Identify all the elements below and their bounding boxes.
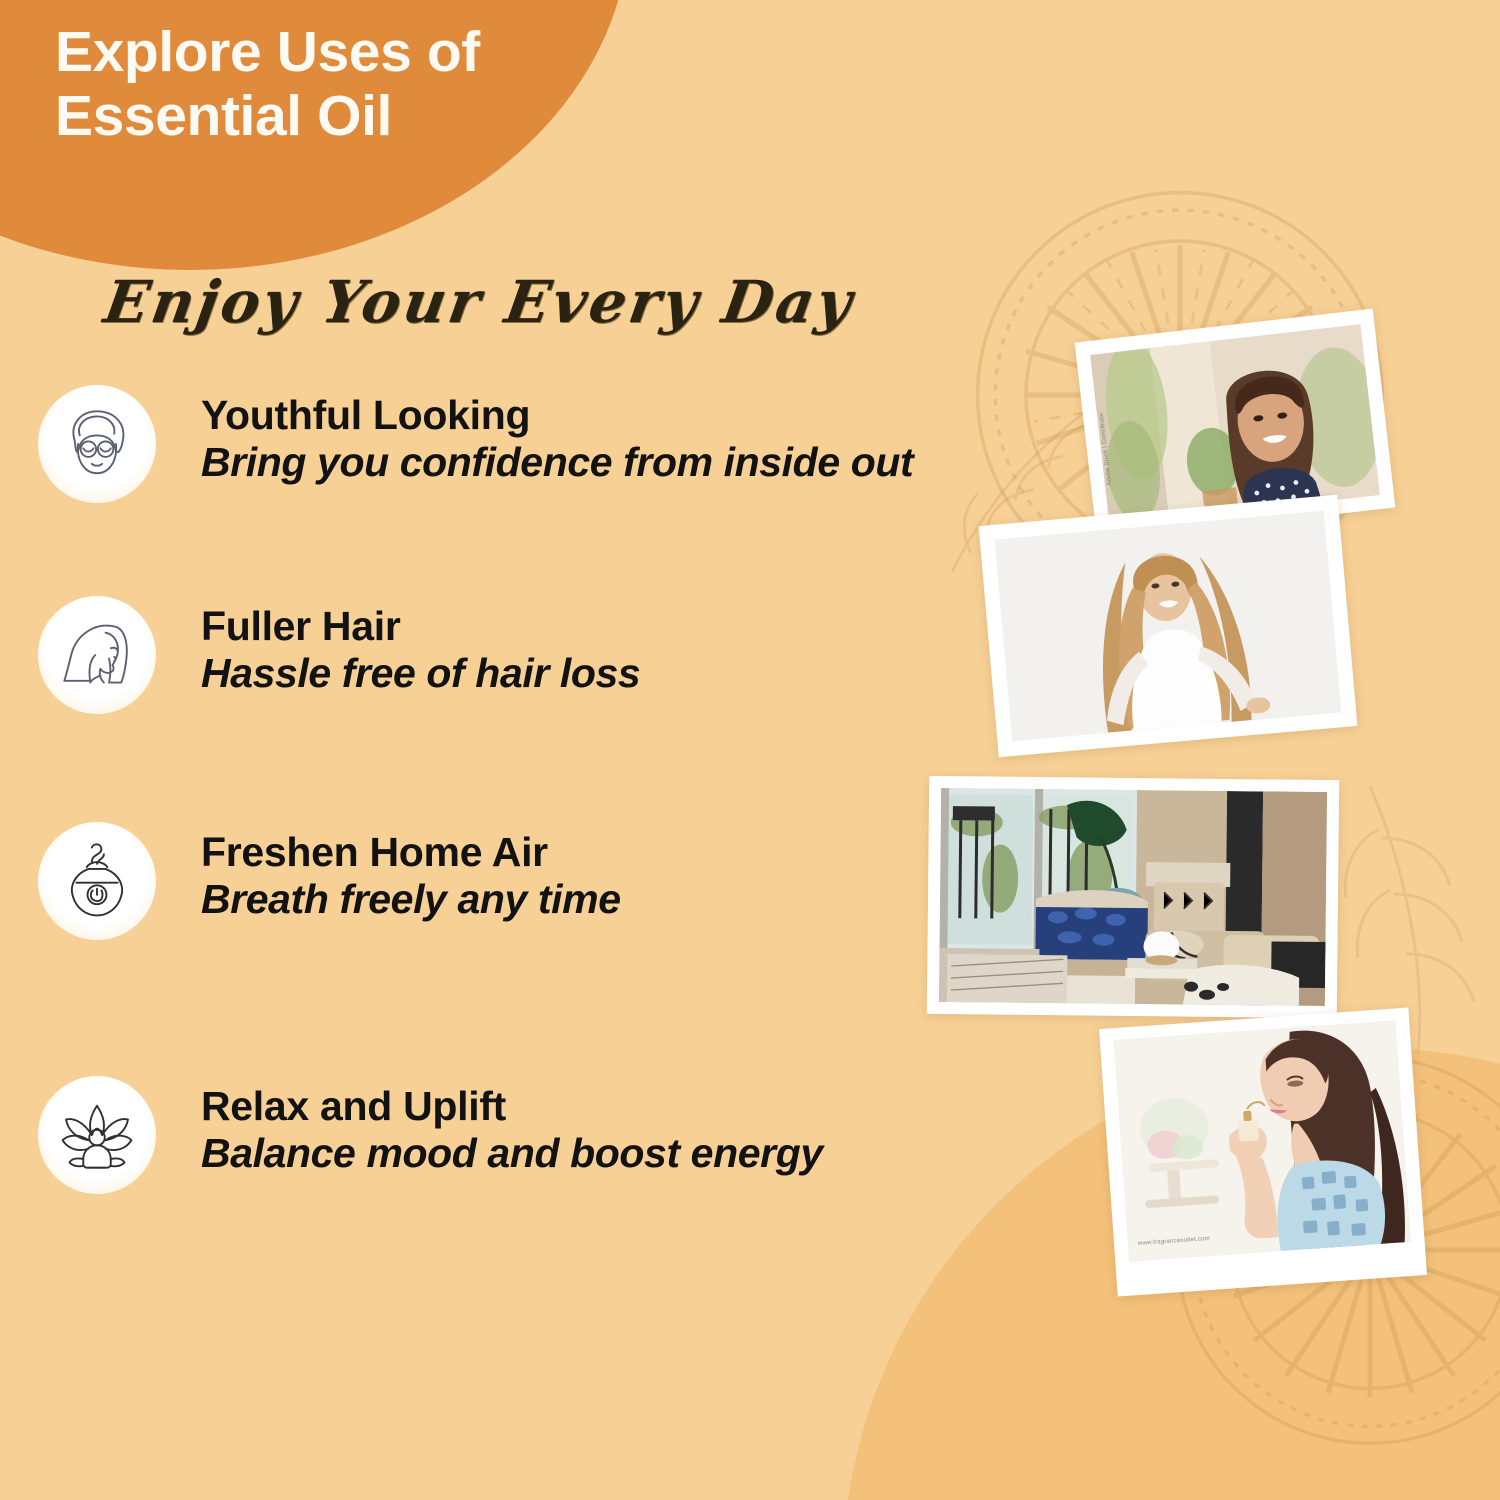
feature-subtitle: Bring you confidence from inside out [201,439,913,487]
photo-image: www.fragranceoutlet.com [1114,1020,1411,1261]
feature-text-block: Relax and Uplift Balance mood and boost … [201,1076,823,1177]
long-hair-profile-icon [38,596,156,714]
feature-item-freshen-home-air: Freshen Home Air Breath freely any time [38,822,621,940]
feature-list: Youthful Looking Bring you confidence fr… [0,0,1000,1500]
feature-title: Relax and Uplift [201,1084,823,1130]
infographic-canvas: Explore Uses of Essential Oil Enjoy Your… [0,0,1500,1500]
feature-text-block: Freshen Home Air Breath freely any time [201,822,621,923]
feature-item-youthful-looking: Youthful Looking Bring you confidence fr… [38,385,913,503]
feature-subtitle: Balance mood and boost energy [201,1130,823,1178]
face-mask-icon [38,385,156,503]
feature-item-relax-and-uplift: Relax and Uplift Balance mood and boost … [38,1076,823,1194]
feature-subtitle: Hassle free of hair loss [201,650,640,698]
feature-text-block: Fuller Hair Hassle free of hair loss [201,596,640,697]
woman-spraying-perfume-photo: www.fragranceoutlet.com [1099,1008,1427,1297]
feature-title: Freshen Home Air [201,830,621,876]
feature-item-fuller-hair: Fuller Hair Hassle free of hair loss [38,596,640,714]
lotus-meditation-icon [38,1076,156,1194]
aroma-diffuser-icon [38,822,156,940]
feature-title: Fuller Hair [201,604,640,650]
feature-text-block: Youthful Looking Bring you confidence fr… [201,385,913,486]
feature-title: Youthful Looking [201,393,913,439]
photo-image [995,511,1341,741]
cozy-living-room-photo [927,776,1339,1018]
feature-subtitle: Breath freely any time [201,876,621,924]
photo-image [939,788,1327,1006]
blonde-wavy-hair-photo [979,495,1358,757]
